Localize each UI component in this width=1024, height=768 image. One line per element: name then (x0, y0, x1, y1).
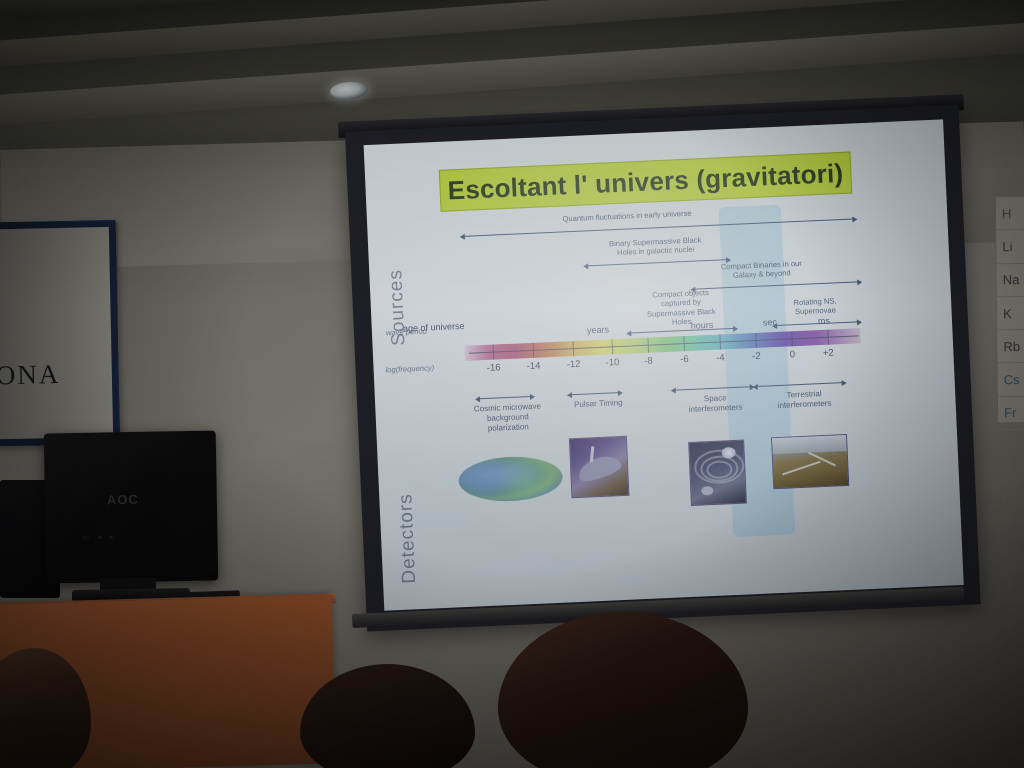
source-label: Quantum fluctuations in early universe (517, 207, 737, 226)
periodic-table-poster: H Li Na K Rb Cs Fr (995, 196, 1024, 423)
projection-screen-frame: Escoltant l' univers (gravitatori) Sourc… (345, 105, 981, 632)
source-label: Rotating NS, Supernovae (767, 295, 864, 318)
interferometer-arm (782, 461, 821, 476)
element-cell: Fr (998, 396, 1024, 430)
axis-tick-label: -10 (605, 357, 619, 369)
axis-tick-label: +2 (823, 347, 834, 358)
period-tick-label: years (573, 324, 623, 337)
element-cell: Rb (997, 330, 1024, 364)
satellite-icon (701, 486, 713, 496)
slide-title-banner: Escoltant l' univers (gravitatori) (439, 152, 852, 212)
axis-tick-label: -8 (644, 356, 653, 367)
element-cell: Li (996, 230, 1024, 264)
radio-telescope-thumbnail (569, 436, 630, 499)
dish-shape (575, 452, 623, 485)
left-wall-poster: ONA (0, 220, 120, 448)
element-cell: H (996, 196, 1024, 231)
projection-screen: Escoltant l' univers (gravitatori) Sourc… (364, 119, 964, 610)
detector-label: Terrestrial interferometers (761, 388, 848, 412)
detectors-axis-label: Detectors (392, 433, 421, 584)
axis-tick-label: -14 (527, 361, 541, 373)
element-cell: Na (997, 263, 1024, 297)
left-poster-text: ONA (0, 359, 61, 391)
presentation-slide: Escoltant l' univers (gravitatori) Sourc… (364, 119, 964, 610)
lisa-orbit-thumbnail (688, 440, 747, 506)
detector-range-arrow (479, 396, 531, 399)
element-cell: K (997, 297, 1024, 331)
monitor-buttons[interactable]: ▭ ◂ ▸ (81, 532, 116, 542)
monitor-brand-logo: AOC (107, 492, 139, 508)
axis-tick-label: -6 (680, 354, 689, 365)
cmb-sky-map-thumbnail (458, 455, 564, 504)
source-label: Binary Supermassive Black Holes in galac… (580, 234, 731, 260)
computer-monitor[interactable]: AOC ▭ ◂ ▸ (44, 431, 219, 584)
period-tick-label: hours (677, 319, 727, 332)
period-tick-label: sec (750, 316, 790, 329)
element-cell: Cs (998, 363, 1024, 397)
detector-label: Space interferometers (677, 392, 754, 415)
axis-tick-label: -4 (716, 352, 725, 363)
log-frequency-row-label: log(frequency) (385, 363, 434, 374)
detector-label: Cosmic microwave background polarization (451, 401, 564, 436)
period-tick-label: age of universe (399, 321, 469, 335)
ligo-site-thumbnail (771, 434, 849, 489)
axis-tick-label: 0 (789, 349, 795, 360)
axis-tick-label: -16 (487, 362, 501, 374)
detector-range-arrow (571, 392, 619, 395)
period-tick-label: ms (809, 315, 839, 327)
axis-tick-label: -12 (566, 359, 580, 371)
detector-label: Pulsar Timing (555, 397, 641, 411)
axis-tick-label: -2 (752, 351, 761, 362)
lecture-hall-photo: ONA H Li Na K Rb Cs Fr Escoltant l' univ… (0, 0, 1024, 768)
page-title: Escoltant l' univers (gravitatori) (447, 157, 844, 206)
